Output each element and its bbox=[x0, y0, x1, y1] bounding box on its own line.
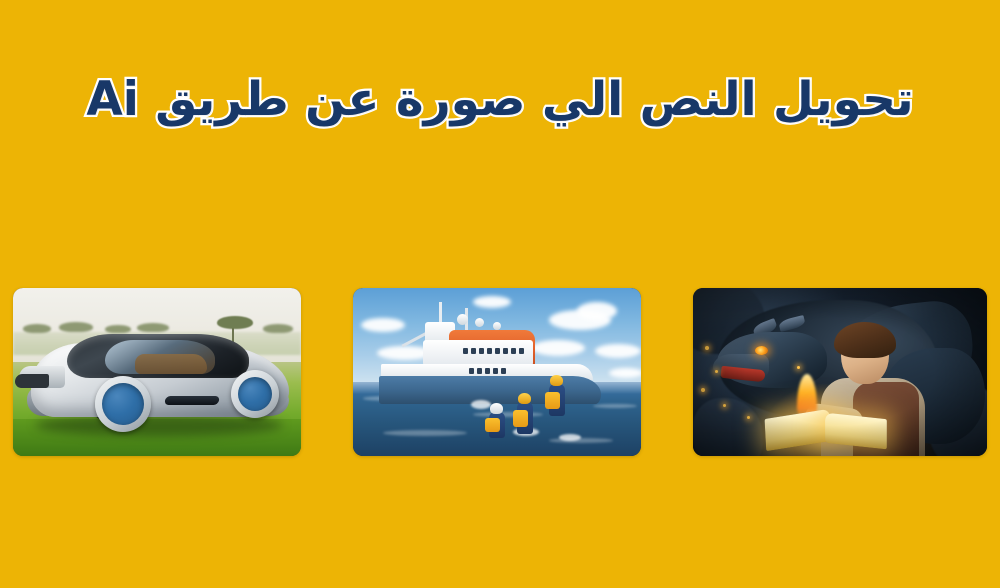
concept-car-image bbox=[13, 288, 301, 456]
wave bbox=[383, 430, 467, 436]
diver-helmet bbox=[518, 393, 531, 404]
page-title: تحويل النص الي صورة عن طريق Ai bbox=[86, 71, 913, 130]
front-wheel-hub bbox=[95, 376, 151, 432]
boy-hair bbox=[834, 322, 896, 358]
image-gallery bbox=[0, 288, 1000, 458]
gallery-item-dragon-boy[interactable] bbox=[693, 288, 987, 456]
background-bush bbox=[263, 324, 293, 333]
car-interior bbox=[135, 354, 207, 374]
wave bbox=[593, 404, 637, 408]
page-title-container: تحويل النص الي صورة عن طريق Ai bbox=[0, 40, 1000, 162]
car-shadow bbox=[35, 414, 283, 436]
ember-spark bbox=[715, 370, 718, 373]
ember-spark bbox=[723, 404, 726, 407]
ship-hull bbox=[379, 376, 601, 404]
ember-spark bbox=[797, 366, 800, 369]
gallery-item-research-ship[interactable] bbox=[353, 288, 641, 456]
background-bush bbox=[105, 325, 131, 333]
water-splash bbox=[471, 400, 491, 409]
ship-window-row bbox=[463, 348, 524, 354]
cloud bbox=[361, 318, 405, 332]
acacia-tree-trunk bbox=[232, 328, 234, 342]
ship-radome bbox=[457, 314, 468, 325]
diver-life-vest bbox=[485, 418, 500, 432]
water-splash bbox=[559, 434, 581, 441]
acacia-tree-canopy bbox=[217, 316, 253, 329]
diver-life-vest bbox=[545, 392, 560, 409]
rescue-diver bbox=[517, 402, 533, 434]
gallery-item-concept-car[interactable] bbox=[13, 288, 301, 456]
ember-spark bbox=[705, 346, 709, 350]
cloud bbox=[577, 302, 617, 320]
diver-helmet bbox=[490, 403, 503, 414]
diver-life-vest bbox=[513, 410, 528, 427]
dragon-boy-image bbox=[693, 288, 987, 456]
dragon-eye bbox=[755, 346, 768, 355]
background-bush bbox=[137, 323, 169, 332]
cloud bbox=[609, 368, 641, 378]
open-book-right-page bbox=[825, 413, 887, 450]
cloud bbox=[595, 344, 641, 358]
rescue-diver bbox=[549, 384, 565, 416]
rear-wheel-hub bbox=[231, 370, 279, 418]
car-nose bbox=[15, 374, 49, 388]
background-bush bbox=[23, 324, 51, 333]
research-ship-image bbox=[353, 288, 641, 456]
ai-text-to-image-banner: تحويل النص الي صورة عن طريق Ai bbox=[0, 0, 1000, 588]
ember-spark bbox=[701, 388, 705, 392]
ship-radome bbox=[475, 318, 484, 327]
ship-radome bbox=[493, 322, 501, 330]
diver-helmet bbox=[550, 375, 563, 386]
background-bush bbox=[59, 322, 93, 332]
ember-spark bbox=[747, 416, 750, 419]
car-side-vent bbox=[164, 396, 220, 405]
cloud bbox=[473, 296, 511, 308]
rescue-diver bbox=[489, 412, 505, 438]
wave bbox=[549, 438, 613, 443]
ship-porthole-row bbox=[469, 368, 506, 374]
cloud bbox=[531, 340, 585, 356]
